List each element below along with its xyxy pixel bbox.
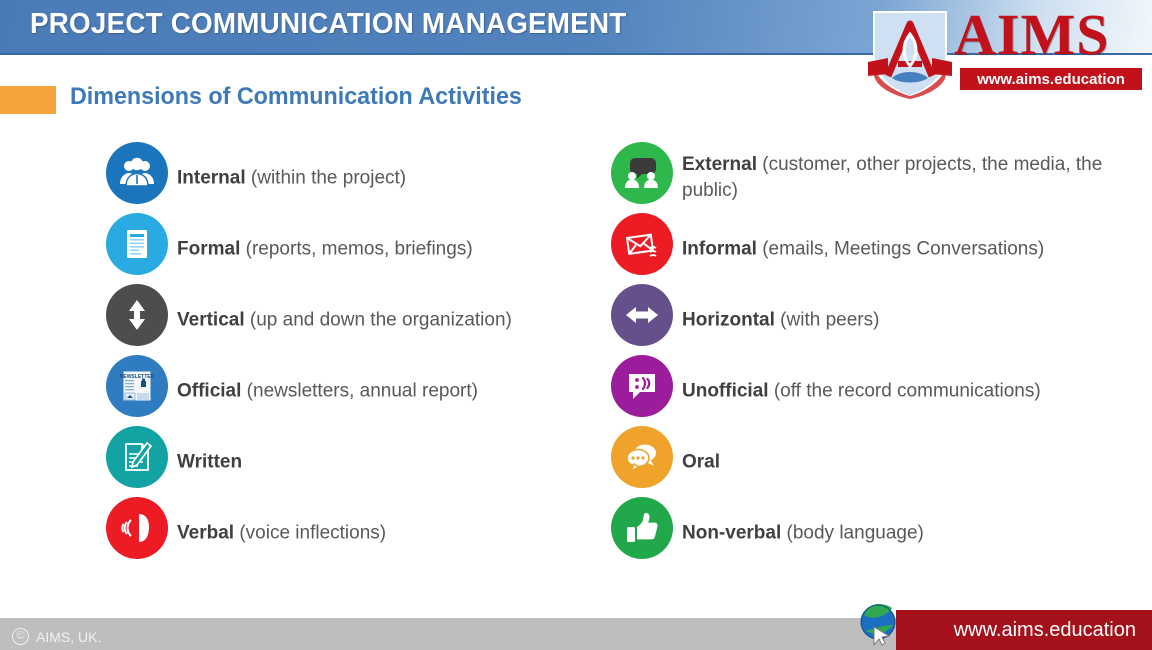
list-item-label: External bbox=[682, 154, 757, 175]
aims-url-text: www.aims.education bbox=[977, 71, 1125, 88]
list-item[interactable]: Internal (within the project) bbox=[106, 142, 586, 213]
page-title: PROJECT COMMUNICATION MANAGEMENT bbox=[30, 8, 626, 41]
list-item[interactable]: Unofficial (off the record communication… bbox=[611, 355, 1131, 426]
list-item-text: External (customer, other projects, the … bbox=[682, 152, 1131, 204]
speech-bubbles-icon bbox=[611, 426, 673, 488]
smiley-bubble-icon bbox=[611, 355, 673, 417]
envelope-icon bbox=[611, 213, 673, 275]
list-item-text: Informal (emails, Meetings Conversations… bbox=[682, 236, 1044, 261]
list-item[interactable]: Oral bbox=[611, 426, 1131, 497]
list-item-label: Internal bbox=[177, 167, 246, 188]
people-speech-icon bbox=[611, 142, 673, 204]
people-group-icon bbox=[106, 142, 168, 204]
list-item[interactable]: Informal (emails, Meetings Conversations… bbox=[611, 213, 1131, 284]
list-item-text: Written bbox=[177, 449, 242, 474]
list-item-detail: (off the record communications) bbox=[769, 380, 1041, 401]
aims-shield-crest-icon bbox=[862, 4, 958, 100]
list-item-detail: (emails, Meetings Conversations) bbox=[757, 238, 1044, 259]
list-item[interactable]: Written bbox=[106, 426, 586, 497]
list-item-label: Formal bbox=[177, 238, 240, 259]
list-item-label: Written bbox=[177, 451, 242, 472]
list-item[interactable]: External (customer, other projects, the … bbox=[611, 142, 1131, 213]
aims-url-bar[interactable]: www.aims.education bbox=[958, 66, 1144, 92]
list-item-label: Horizontal bbox=[682, 309, 775, 330]
newsletter-icon: NEWSLETTER bbox=[106, 355, 168, 417]
up-down-arrow-icon bbox=[106, 284, 168, 346]
list-item-text: Verbal (voice inflections) bbox=[177, 520, 386, 545]
list-item-label: Unofficial bbox=[682, 380, 769, 401]
list-item-label: Oral bbox=[682, 451, 720, 472]
right-column: External (customer, other projects, the … bbox=[611, 142, 1131, 568]
list-item-text: Non-verbal (body language) bbox=[682, 520, 924, 545]
list-item-text: Internal (within the project) bbox=[177, 165, 406, 190]
list-item-label: Non-verbal bbox=[682, 522, 781, 543]
list-item-text: Oral bbox=[682, 449, 720, 474]
list-item-detail: (voice inflections) bbox=[234, 522, 386, 543]
subtitle: Dimensions of Communication Activities bbox=[70, 83, 522, 111]
left-right-arrow-icon bbox=[611, 284, 673, 346]
slide: PROJECT COMMUNICATION MANAGEMENT AIMS ww… bbox=[0, 0, 1152, 650]
list-item-detail: (reports, memos, briefings) bbox=[240, 238, 472, 259]
list-item-text: Official (newsletters, annual report) bbox=[177, 378, 478, 403]
list-item-detail: (up and down the organization) bbox=[245, 309, 512, 330]
thumbs-up-icon bbox=[611, 497, 673, 559]
list-item[interactable]: Vertical (up and down the organization) bbox=[106, 284, 586, 355]
aims-logo[interactable]: AIMS www.aims.education bbox=[858, 2, 1148, 102]
list-item-text: Horizontal (with peers) bbox=[682, 307, 879, 332]
copyright: © AIMS, UK. bbox=[12, 628, 101, 645]
footer-url-text: www.aims.education bbox=[954, 619, 1136, 642]
aims-wordmark: AIMS bbox=[954, 4, 1109, 66]
list-item-label: Vertical bbox=[177, 309, 245, 330]
list-item-label: Official bbox=[177, 380, 241, 401]
copyright-icon: © bbox=[12, 628, 29, 645]
list-item[interactable]: Non-verbal (body language) bbox=[611, 497, 1131, 568]
list-item-text: Formal (reports, memos, briefings) bbox=[177, 236, 473, 261]
speaking-head-icon bbox=[106, 497, 168, 559]
list-item-detail: (with peers) bbox=[775, 309, 880, 330]
list-item-detail: (body language) bbox=[781, 522, 924, 543]
paper-pencil-icon bbox=[106, 426, 168, 488]
list-item-label: Informal bbox=[682, 238, 757, 259]
list-item[interactable]: Verbal (voice inflections) bbox=[106, 497, 586, 568]
list-item[interactable]: Formal (reports, memos, briefings) bbox=[106, 213, 586, 284]
list-item[interactable]: Horizontal (with peers) bbox=[611, 284, 1131, 355]
list-item-text: Unofficial (off the record communication… bbox=[682, 378, 1041, 403]
list-item-label: Verbal bbox=[177, 522, 234, 543]
document-report-icon bbox=[106, 213, 168, 275]
footer-url-bar[interactable]: www.aims.education bbox=[896, 610, 1152, 650]
list-item-detail: (newsletters, annual report) bbox=[241, 380, 478, 401]
copyright-text: AIMS, UK. bbox=[36, 629, 101, 645]
list-item-text: Vertical (up and down the organization) bbox=[177, 307, 512, 332]
svg-text:NEWSLETTER: NEWSLETTER bbox=[120, 374, 155, 380]
left-column: Internal (within the project) bbox=[106, 142, 586, 568]
subtitle-accent-box bbox=[0, 86, 56, 114]
list-item[interactable]: NEWSLETTER Official (newsletters, annual bbox=[106, 355, 586, 426]
list-item-detail: (within the project) bbox=[246, 167, 407, 188]
